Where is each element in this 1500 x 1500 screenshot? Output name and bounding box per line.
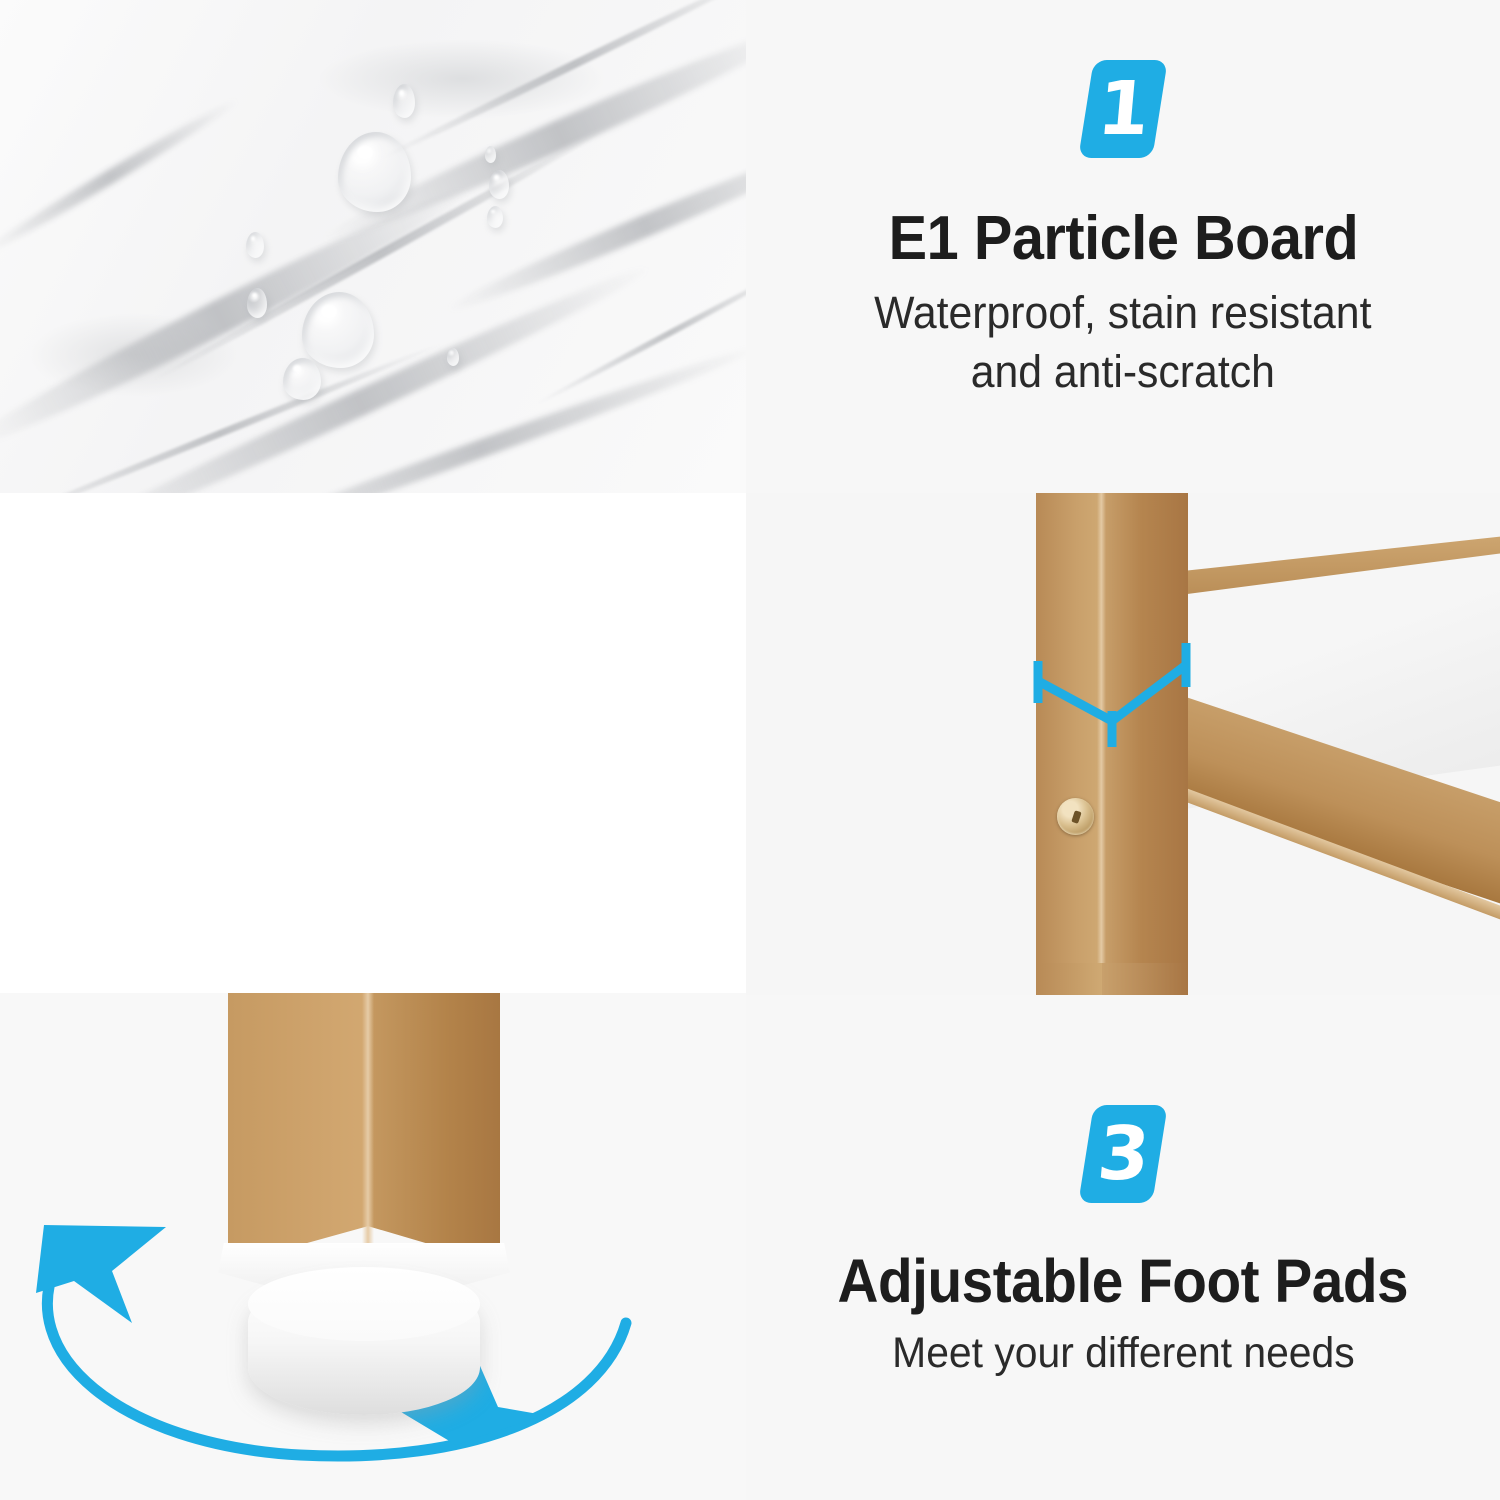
feature-1-subheading-line-1: Waterproof, stain resistant: [874, 284, 1371, 343]
marble-water-photo: [0, 0, 746, 493]
feature-infographic-board: 1 E1 Particle Board Waterproof, stain re…: [0, 0, 1500, 1500]
step-badge-1: 1: [1078, 60, 1168, 158]
step-badge-1-number: 1: [1094, 72, 1151, 146]
step-badge-3-number: 3: [1094, 1117, 1151, 1191]
feature-3-subheading-line-1: Meet your different needs: [892, 1326, 1355, 1382]
step-badge-3: 3: [1078, 1105, 1168, 1203]
feature-1-panel: 1 E1 Particle Board Waterproof, stain re…: [746, 0, 1500, 493]
feature-3-heading: Adjustable Foot Pads: [838, 1249, 1409, 1314]
feature-3-subheading: Meet your different needs: [892, 1326, 1355, 1382]
feature-1-heading: E1 Particle Board: [888, 206, 1358, 272]
dimension-arrows: [746, 493, 1500, 995]
table-leg: [228, 993, 500, 1287]
feature-3-panel: 3 Adjustable Foot Pads Meet your differe…: [746, 995, 1500, 1500]
feature-1-subheading: Waterproof, stain resistant and anti-scr…: [874, 284, 1371, 401]
metal-frame-photo: 0.98” 0.98”: [746, 493, 1500, 995]
feature-1-subheading-line-2: and anti-scratch: [874, 343, 1371, 402]
foot-pad-photo: [0, 993, 746, 1500]
foot-pad-top: [248, 1267, 480, 1341]
